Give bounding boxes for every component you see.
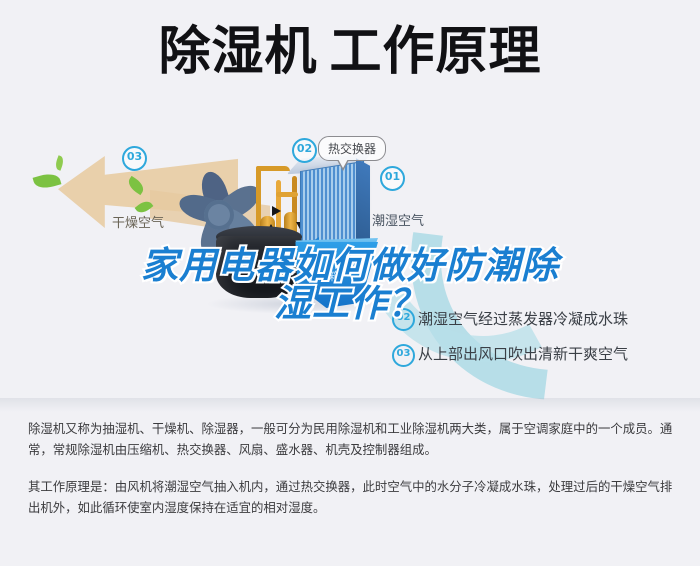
- article-body: 除湿机又称为抽湿机、干燥机、除湿器，一般可分为民用除湿机和工业除湿机两大类，属于…: [28, 418, 676, 534]
- leaf-icon: [33, 171, 62, 192]
- step-badge-03: 03: [392, 344, 415, 367]
- article-paragraph-1: 除湿机又称为抽湿机、干燥机、除湿器，一般可分为民用除湿机和工业除湿机两大类，属于…: [28, 418, 676, 460]
- poster-root: 除湿机工作原理: [0, 0, 700, 566]
- page-title-part-b: 工作原理: [330, 26, 542, 78]
- callout-label-dry-air: 干燥空气: [112, 212, 164, 231]
- article-paragraph-2: 其工作原理是：由风机将潮湿空气抽入机内，通过热交换器，此时空气中的水分子冷凝成水…: [28, 476, 676, 518]
- coil-pipe: [276, 192, 298, 197]
- fan-hub-icon: [204, 200, 234, 230]
- step-badge-02: 02: [392, 308, 415, 331]
- callout-badge-01: 01: [380, 166, 405, 191]
- page-title-part-a: 除湿机: [158, 26, 317, 78]
- dehumidifier-diagram: 水箱 03 干燥空气 02 热交换器 01 潮湿空气 02 潮湿空气经过蒸发器冷…: [0, 118, 700, 398]
- step-text-02: 潮湿空气经过蒸发器冷凝成水珠: [418, 308, 628, 329]
- section-divider: [0, 398, 700, 412]
- callout-label-humid-air: 潮湿空气: [372, 210, 424, 229]
- coil-pipe: [256, 166, 290, 171]
- callout-badge-02: 02: [292, 138, 317, 163]
- callout-bubble-heat-exchanger: 热交换器: [318, 136, 386, 161]
- water-tank-label: 水箱: [318, 268, 340, 284]
- flow-arrow-right-icon: [272, 206, 281, 216]
- step-text-03: 从上部出风口吹出清新干爽空气: [418, 343, 628, 364]
- leaf-icon: [54, 155, 65, 171]
- compressor-icon: [216, 236, 302, 298]
- heat-exchanger-side-icon: [356, 158, 370, 247]
- callout-badge-03: 03: [122, 146, 147, 171]
